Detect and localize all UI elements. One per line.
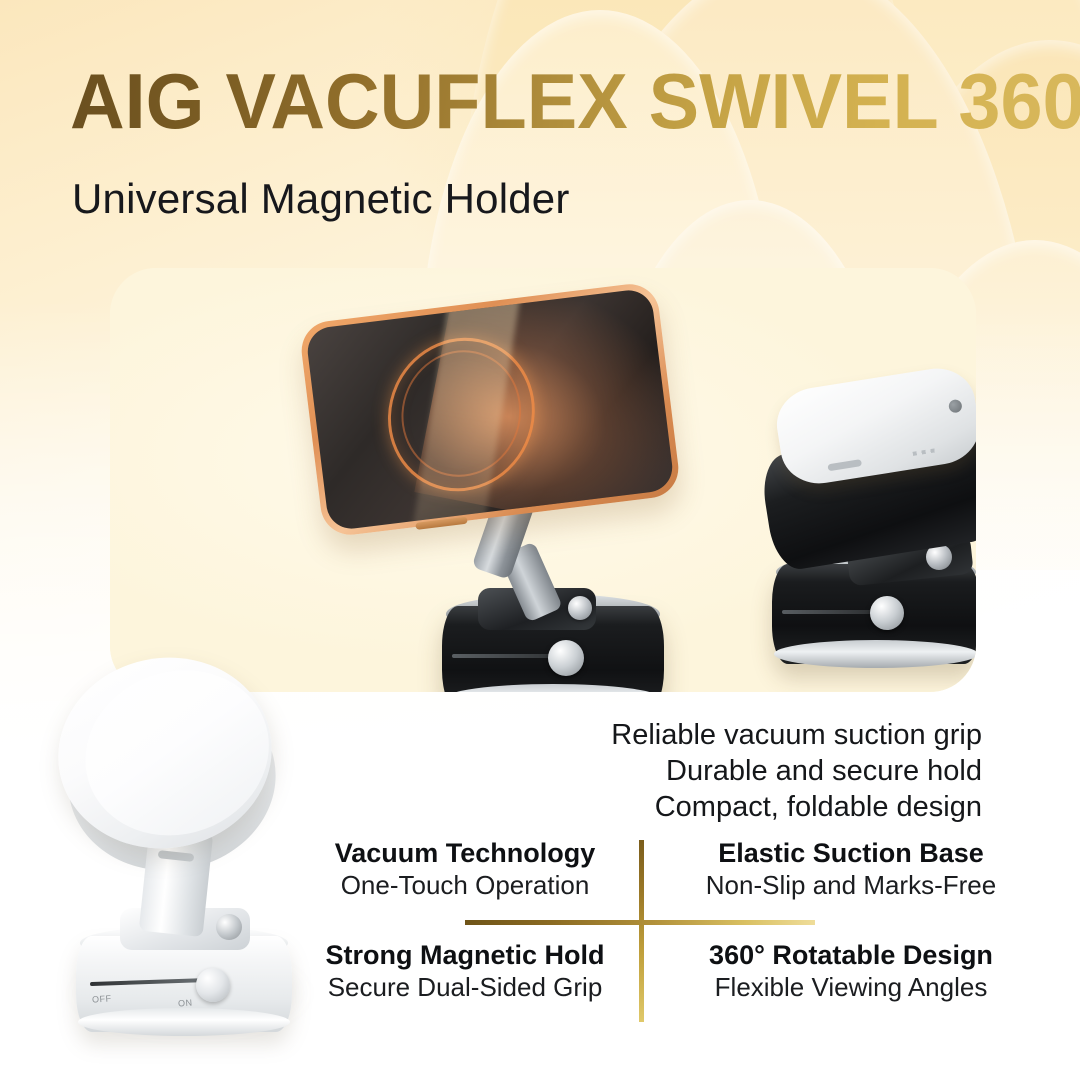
feature-subtitle: Secure Dual-Sided Grip	[300, 972, 630, 1003]
earbuds-case-speaker-dots	[912, 448, 938, 456]
feature-subtitle: Flexible Viewing Angles	[686, 972, 1016, 1003]
white-base-knob	[196, 968, 230, 1002]
feature-subtitle: Non-Slip and Marks-Free	[686, 870, 1016, 901]
feature-grid-horizontal-divider	[465, 920, 815, 925]
product-white-folded-holder: OFF ON	[40, 650, 340, 1050]
feature-title: 360° Rotatable Design	[686, 940, 1016, 972]
white-hinge-screw	[216, 914, 242, 940]
switch-off-label: OFF	[92, 993, 112, 1004]
page-subtitle: Universal Magnetic Holder	[72, 175, 570, 223]
earbuds-case-side-button	[948, 399, 963, 414]
benefit-line: Compact, foldable design	[502, 790, 982, 826]
mount-base-knob	[548, 640, 584, 676]
smartphone-screen	[305, 288, 675, 532]
folded-mount-suction-ring	[774, 640, 976, 668]
benefits-list: Reliable vacuum suction grip Durable and…	[502, 718, 982, 826]
feature-cell-elastic-suction-base: Elastic Suction Base Non-Slip and Marks-…	[686, 838, 1016, 901]
benefit-line: Durable and secure hold	[502, 754, 982, 790]
earbuds-case-charging-port	[827, 459, 862, 471]
feature-title: Elastic Suction Base	[686, 838, 1016, 870]
feature-subtitle: One-Touch Operation	[300, 870, 630, 901]
white-base-suction-ring	[78, 1008, 290, 1036]
feature-title: Strong Magnetic Hold	[300, 940, 630, 972]
white-magnetic-head-face	[62, 645, 292, 861]
feature-cell-360-rotatable-design: 360° Rotatable Design Flexible Viewing A…	[686, 940, 1016, 1003]
folded-mount-knob	[870, 596, 904, 630]
mount-hinge-screw	[568, 596, 592, 620]
benefit-line: Reliable vacuum suction grip	[502, 718, 982, 754]
page-title: AIG VACUFLEX SWIVEL 360	[70, 62, 1080, 140]
feature-grid-vertical-divider	[639, 840, 644, 1022]
feature-cell-strong-magnetic-hold: Strong Magnetic Hold Secure Dual-Sided G…	[300, 940, 630, 1003]
switch-on-label: ON	[178, 998, 193, 1009]
feature-cell-vacuum-technology: Vacuum Technology One-Touch Operation	[300, 838, 630, 901]
smartphone	[298, 281, 682, 538]
feature-grid: Vacuum Technology One-Touch Operation El…	[300, 836, 1020, 1026]
product-earbuds-case-on-folded-mount	[730, 378, 976, 678]
product-smartphone-on-swivel-mount	[290, 288, 710, 688]
feature-title: Vacuum Technology	[300, 838, 630, 870]
hero-product-card	[110, 268, 976, 692]
